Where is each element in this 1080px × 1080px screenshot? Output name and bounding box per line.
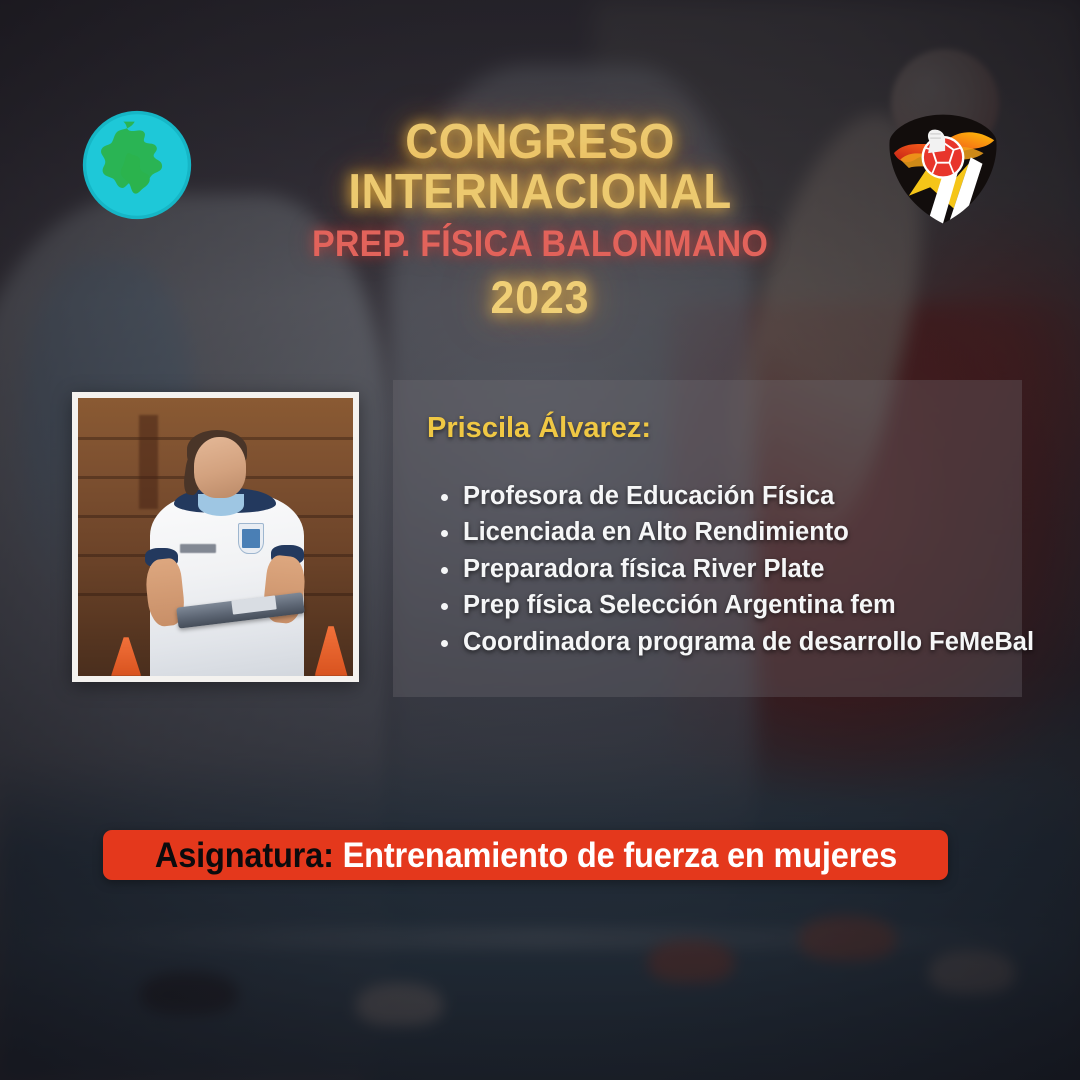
list-item: Preparadora física River Plate [463,551,1012,587]
photo-jersey-brand-mark [180,544,216,553]
page-title: CONGRESO INTERNACIONAL [233,118,847,218]
list-item: Coordinadora programa de desarrollo FeMe… [463,624,1012,660]
speaker-photo [78,398,353,676]
list-item: Licenciada en Alto Rendimiento [463,514,1012,550]
list-item: Prep física Selección Argentina fem [463,587,1012,623]
subject-banner-text: Asignatura: Entrenamiento de fuerza en m… [154,838,896,873]
globe-europe-africa-icon [80,108,194,222]
page-subtitle: PREP. FÍSICA BALONMANO [236,225,843,264]
photo-team-crest-inner [242,529,260,548]
speaker-photo-card [72,392,359,682]
photo-background-post [139,415,158,510]
photo-training-cone [111,637,141,676]
page-year: 2023 [227,274,854,321]
subject-banner: Asignatura: Entrenamiento de fuerza en m… [103,830,948,880]
photo-face [194,437,246,498]
speaker-name: Priscila Álvarez: [427,412,651,445]
speaker-bio-panel: Priscila Álvarez: Profesora de Educación… [393,380,1022,697]
speaker-credentials-list: Profesora de Educación Física Licenciada… [433,478,1012,660]
list-item: Profesora de Educación Física [463,478,1012,514]
flaming-handball-shield-logo [879,104,1007,232]
photo-training-cone [315,626,348,676]
subject-label: Asignatura: [154,836,333,875]
congress-promo-poster: CONGRESO INTERNACIONAL PREP. FÍSICA BALO… [0,0,1080,1080]
poster-title-block: CONGRESO INTERNACIONAL PREP. FÍSICA BALO… [210,118,870,321]
subject-value: Entrenamiento de fuerza en mujeres [342,836,896,875]
